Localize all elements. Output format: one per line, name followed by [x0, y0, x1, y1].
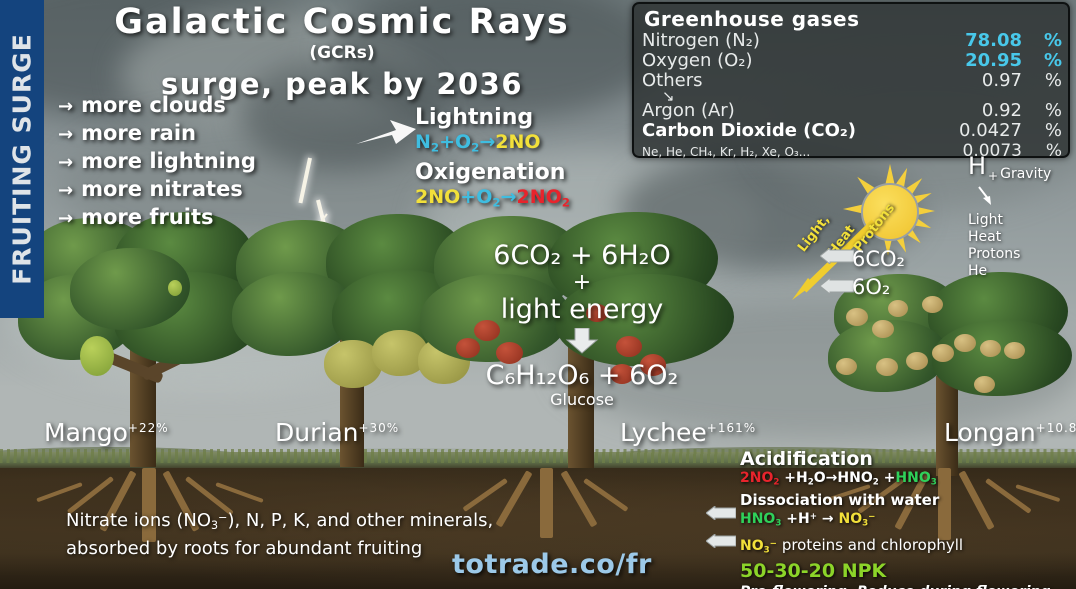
oxigenation-equation: 2NO+O2→2NO2	[415, 186, 675, 209]
side-banner-label: FRUITING SURGE	[8, 33, 37, 285]
reaction-down-arrow-icon	[565, 328, 599, 354]
list-item-label: more fruits	[81, 204, 213, 231]
photosynthesis-reactants: 6CO₂ + 6H₂O	[432, 240, 732, 272]
gas-exchange-labels: 6CO₂ 6O₂	[852, 245, 905, 301]
gas-value: 0.97	[926, 71, 1022, 91]
list-item: → more fruits	[58, 204, 388, 232]
arrow-icon: →	[58, 121, 73, 148]
co2-arrow-icon	[820, 248, 854, 264]
pointer-arrow-icon	[356, 118, 418, 152]
photosynthesis-plus: +	[432, 272, 732, 294]
tree-label-lychee: Lychee+161%	[620, 418, 756, 447]
acidification-block: Acidification 2NO2 +H2O→HNO2 +HNO3 Disso…	[740, 448, 1076, 589]
list-item: → more nitrates	[58, 176, 388, 204]
gas-name: Carbon Dioxide (CO₂)	[642, 121, 926, 141]
acidification-heading: Acidification	[740, 448, 1076, 470]
tree-label-mango: Mango+22%	[44, 418, 169, 447]
tree-label-durian: Durian+30%	[275, 418, 399, 447]
photosynthesis-products: C₆H₁₂O₆ + 6O₂	[432, 360, 732, 392]
npk-note-line-1: Pre-flowering. Reduce during flowering,	[740, 583, 1076, 589]
fusion-output: Light	[968, 212, 1051, 229]
npk-arrow-icon	[706, 534, 736, 548]
gas-value: 0.92	[926, 101, 1022, 121]
gas-value: 0.0427	[926, 121, 1022, 141]
oxigenation-heading: Oxigenation	[415, 160, 675, 185]
o2-arrow-icon	[820, 278, 854, 294]
tree-name: Lychee	[620, 418, 707, 447]
list-item: → more lightning	[58, 148, 388, 176]
uptake-text: proteins and chlorophyll	[782, 536, 963, 554]
down-arrow-icon	[976, 185, 996, 207]
gas-unit: %	[1022, 51, 1062, 71]
nitrate-uptake: NO3− proteins and chlorophyll	[740, 536, 1076, 559]
table-row: Argon (Ar) 0.92 %	[642, 101, 1062, 121]
uptake-arrow-icon	[706, 506, 736, 520]
gas-unit: %	[1022, 71, 1062, 91]
list-item-label: more rain	[81, 120, 196, 147]
fusion-output: Heat	[968, 229, 1051, 246]
arrow-icon: →	[58, 93, 73, 120]
tree-name: Durian	[275, 418, 358, 447]
fusion-output: He	[968, 263, 1051, 280]
hydrogen-symbol: H	[968, 158, 986, 175]
list-item: → more clouds	[58, 92, 388, 120]
co2-label: 6CO₂	[852, 245, 905, 273]
greenhouse-gases-table: Greenhouse gases Nitrogen (N₂) 78.08 % O…	[632, 2, 1070, 158]
tree-label-longan: Longan+10.8%	[944, 418, 1076, 447]
gas-table-title: Greenhouse gases	[644, 7, 1062, 31]
plus-symbol: +	[988, 168, 998, 185]
o2-label: 6O₂	[852, 273, 905, 301]
uptake-ion: NO3−	[740, 538, 777, 554]
tree-delta: +161%	[707, 421, 756, 435]
list-item: → more rain	[58, 120, 388, 148]
fusion-output: Protons	[968, 246, 1051, 263]
photosynthesis-equation: 6CO₂ + 6H₂O + light energy C₆H₁₂O₆ + 6O₂…	[432, 240, 732, 409]
table-row: Oxygen (O₂) 20.95 %	[642, 51, 1062, 71]
tree-delta: +10.8%	[1036, 421, 1076, 435]
arrow-icon: →	[58, 149, 73, 176]
photosynthesis-light: light energy	[432, 294, 732, 326]
side-banner: FRUITING SURGE	[0, 0, 44, 318]
tree-delta: +22%	[128, 421, 169, 435]
gas-name: Argon (Ar)	[642, 101, 926, 121]
arrow-icon: →	[58, 177, 73, 204]
tree-name: Longan	[944, 418, 1036, 447]
title-line-1: Galactic Cosmic Rays	[52, 2, 632, 42]
npk-label: 50-30-20 NPK	[740, 559, 1076, 583]
gas-unit: %	[1022, 121, 1062, 141]
tree-delta: +30%	[358, 421, 399, 435]
infographic-canvas: FRUITING SURGE Galactic Cosmic Rays (GCR…	[0, 0, 1076, 589]
gas-name: Oxygen (O₂)	[642, 51, 926, 71]
glucose-label: Glucose	[432, 390, 732, 409]
list-item-label: more clouds	[81, 92, 226, 119]
list-item-label: more nitrates	[81, 176, 243, 203]
title-line-2: (GCRs)	[52, 43, 632, 63]
effects-list: → more clouds → more rain → more lightni…	[58, 92, 388, 232]
gas-name: Ne, He, CH₄, Kr, H₂, Xe, O₃...	[642, 142, 926, 162]
page-title: Galactic Cosmic Rays (GCRs) surge, peak …	[52, 2, 632, 101]
solar-fusion-block: H + Gravity Light Heat Protons He	[968, 158, 1051, 280]
acidification-equation-2: HNO3 +H+ → NO3−	[740, 509, 1076, 532]
tree-name: Mango	[44, 418, 128, 447]
gas-name: Nitrogen (N₂)	[642, 31, 926, 51]
gas-name: Others	[642, 71, 926, 91]
site-logo[interactable]: totrade.co/fr	[452, 549, 652, 580]
acidification-equation-1: 2NO2 +H2O→HNO2 +HNO3	[740, 470, 1076, 491]
gas-unit: %	[1022, 31, 1062, 51]
list-item-label: more lightning	[81, 148, 256, 175]
gas-value: 20.95	[926, 51, 1022, 71]
arrow-icon: →	[58, 205, 73, 232]
gravity-label: Gravity	[1000, 166, 1051, 183]
gas-unit: %	[1022, 101, 1062, 121]
table-row: Nitrogen (N₂) 78.08 %	[642, 31, 1062, 51]
table-row: Others 0.97 %	[642, 71, 1062, 91]
gas-value: 78.08	[926, 31, 1022, 51]
dissociation-label: Dissociation with water	[740, 491, 1076, 509]
table-row: Carbon Dioxide (CO₂) 0.0427 %	[642, 121, 1062, 141]
